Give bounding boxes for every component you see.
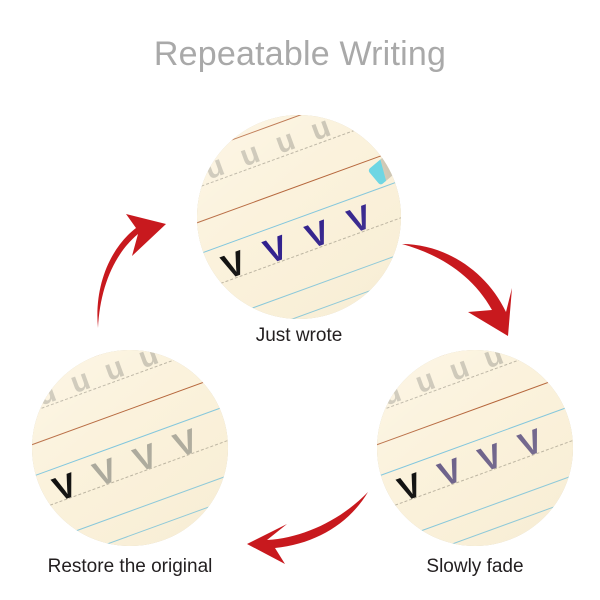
worksheet-artwork: u u u u u V V V V 伞 [32,350,228,546]
glyph-u-trace: u [33,377,60,411]
glyph-u-trace: u [446,352,473,386]
glyph-u-trace: u [101,352,128,386]
glyph-v-trace: V [563,512,573,542]
glyph-v-written: V [343,199,376,239]
glyph-v-inked: V [49,468,82,508]
glyph-v-fading: V [434,453,467,493]
glyph-u-trace: u [480,350,507,374]
glyph-v-trace: V [89,453,122,493]
arrow-fade-to-restore-icon [245,490,370,570]
photo-restore: u u u u u V V V V 伞 [32,350,228,546]
glyph-v-written: V [301,214,334,254]
glyph-v-trace: V [170,424,203,464]
worksheet-artwork: u u u u u V V V V 伞 [197,115,401,319]
glyph-u-trace: u [307,115,334,146]
photo-slowly-fade: u u u u u V V V V V V 伞 [377,350,573,546]
glyph-v-fading: V [515,424,548,464]
stage-caption-restore: Restore the original [0,555,278,579]
arrow-just-wrote-to-fade-icon [400,240,520,350]
glyph-u-trace: u [236,137,263,171]
glyph-u-trace: u [200,150,227,184]
glyph-u-trace: u [271,124,298,158]
glyph-v-trace: V [532,523,557,546]
glyph-u-trace: u [67,365,94,399]
glyph-v-inked: V [394,468,427,508]
arrow-restore-to-just-wrote-icon [92,210,202,330]
glyph-v-inked: V [217,245,250,285]
worksheet-artwork: u u u u u V V V V V V 伞 [377,350,573,546]
glyph-u-trace: u [412,365,439,399]
glyph-v-written: V [259,229,292,269]
glyph-u-trace: u [378,377,405,411]
glyph-v-trace: V [129,439,162,479]
page-title: Repeatable Writing [0,33,600,75]
photo-just-wrote: u u u u u V V V V 伞 [197,115,401,319]
glyph-u-trace: u [135,350,162,374]
glyph-v-fading: V [474,439,507,479]
